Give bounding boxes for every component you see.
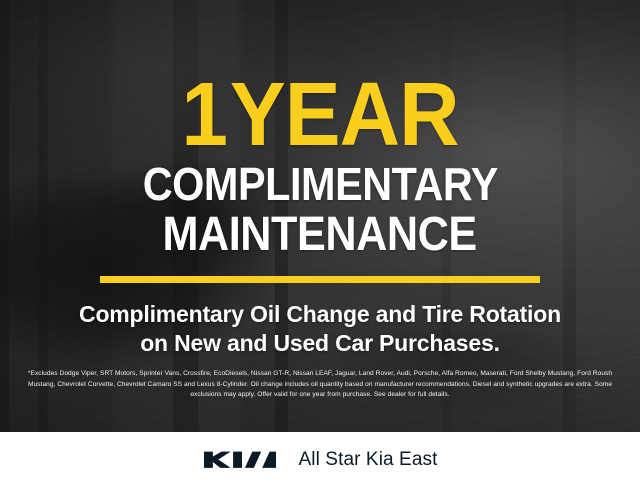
footer-bar: All Star Kia East [0,432,640,488]
hero-section: 1YEAR COMPLIMENTARY MAINTENANCE Complime… [0,0,640,432]
offer-description-line-1: Complimentary Oil Change and Tire Rotati… [79,300,561,329]
yellow-divider-rule [100,276,540,283]
offer-duration-heading: 1YEAR [181,74,458,157]
dealer-name: All Star Kia East [299,449,438,471]
offer-description-line-2: on New and Used Car Purchases. [79,329,561,358]
headline-line-complimentary: COMPLIMENTARY [142,161,497,207]
headline-line-maintenance: MAINTENANCE [163,211,477,259]
headline-block: 1YEAR COMPLIMENTARY MAINTENANCE Complime… [0,0,640,432]
kia-logo [203,445,277,476]
offer-duration-number: 1 [181,65,229,165]
disclaimer-text: *Excludes Dodge Viper, SRT Motors, Sprin… [14,369,626,401]
offer-description: Complimentary Oil Change and Tire Rotati… [79,300,561,359]
promotional-banner: 1YEAR COMPLIMENTARY MAINTENANCE Complime… [0,0,640,488]
offer-duration-unit: YEAR [230,65,459,165]
